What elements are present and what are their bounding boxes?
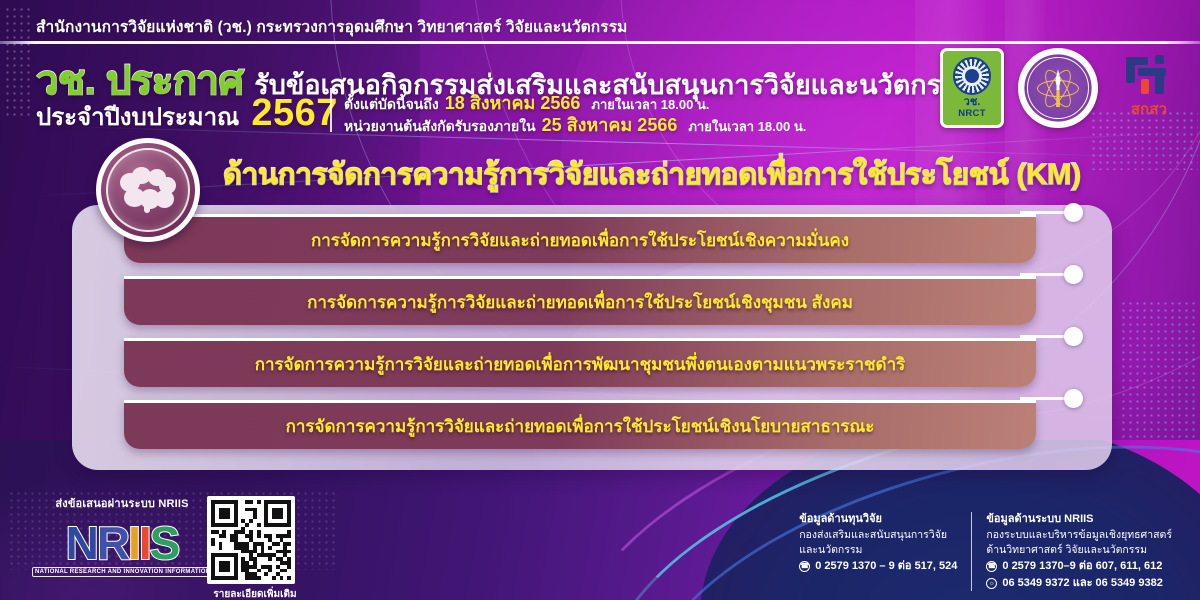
topic-label: การจัดการความรู้การวิจัยและถ่ายทอดเพื่อก… — [281, 294, 879, 311]
topic-bar[interactable]: การจัดการความรู้การวิจัยและถ่ายทอดเพื่อก… — [124, 338, 1036, 387]
nrct-english-abbr: NRCT — [958, 109, 986, 119]
phone-icon: ☎ — [799, 561, 810, 572]
headline-vertical-divider — [330, 88, 332, 132]
contact-nriis-system: ข้อมูลด้านระบบ NRIIS กองระบบและบริหารข้อ… — [972, 512, 1186, 591]
contact-line: และนวัตกรรม — [799, 543, 957, 558]
topic-node-dot — [1064, 389, 1083, 408]
list-item[interactable]: การจัดการความรู้การวิจัยและถ่ายทอดเพื่อก… — [124, 338, 1084, 393]
mhesi-atom-icon — [1035, 65, 1081, 111]
nriis-letter-n: N — [66, 522, 97, 564]
contact-title: ข้อมูลด้านทุนวิจัย — [799, 512, 957, 528]
qr-block[interactable]: รายละเอียดเพิ่มเติม — [207, 496, 303, 600]
topic-label: การจัดการความรู้การวิจัยและถ่ายทอดเพื่อก… — [260, 418, 901, 435]
category-badge — [96, 138, 200, 242]
tsri-logo: สกสว — [1112, 48, 1186, 128]
nriis-letter-r: R — [97, 522, 128, 564]
contact-line: กองระบบและบริหารข้อมูลเชิงยุทธศาสตร์ — [986, 528, 1172, 543]
deadline-date: 25 สิงหาคม 2566 — [542, 110, 678, 139]
fiscal-year-value: 2567 — [251, 92, 338, 135]
contact-line: กองส่งเสริมและสนับสนุนการวิจัย — [799, 528, 957, 543]
contact-phone-number: 0 2579 1370–9 ต่อ 607, 611, 612 — [1002, 558, 1162, 575]
contact-line: ด้านวิทยาศาสตร์ วิจัยและนวัตกรรม — [986, 543, 1172, 558]
topic-node-dot — [1064, 327, 1083, 346]
contact-mobile-number: 06 5349 9372 และ 06 5349 9382 — [1002, 575, 1162, 592]
topic-node-dot — [1064, 203, 1083, 222]
announcement-banner: สำนักงานการวิจัยแห่งชาติ (วช.) กระทรวงกา… — [0, 0, 1200, 600]
topic-bar[interactable]: การจัดการความรู้การวิจัยและถ่ายทอดเพื่อก… — [124, 276, 1036, 325]
tsri-label: สกสว — [1131, 97, 1168, 121]
logo-group: วช. NRCT สกสว — [940, 48, 1186, 128]
submit-caption: ส่งข้อเสนอผ่านระบบ NRIIS — [32, 494, 212, 512]
contact-mobile: ☼ 06 5349 9372 และ 06 5349 9382 — [986, 575, 1172, 592]
list-item[interactable]: การจัดการความรู้การวิจัยและถ่ายทอดเพื่อก… — [124, 276, 1084, 331]
contact-title: ข้อมูลด้านระบบ NRIIS — [986, 512, 1172, 528]
mhesi-logo — [1018, 48, 1098, 128]
topic-node-dot — [1064, 265, 1083, 284]
phone-icon: ☎ — [986, 561, 997, 572]
nrct-logo: วช. NRCT — [940, 48, 1004, 128]
topic-bar[interactable]: การจัดการความรู้การวิจัยและถ่ายทอดเพื่อก… — [124, 214, 1036, 263]
headline-row-year: ประจำปีงบประมาณ 2567 — [36, 92, 338, 136]
nrct-thai-abbr: วช. — [964, 96, 981, 108]
brain-knowledge-icon — [119, 166, 177, 214]
topic-label: การจัดการความรู้การวิจัยและถ่ายทอดเพื่อก… — [229, 356, 932, 373]
mobile-icon: ☼ — [986, 578, 997, 589]
organization-line: สำนักงานการวิจัยแห่งชาติ (วช.) กระทรวงกา… — [36, 14, 627, 38]
qr-caption: รายละเอียดเพิ่มเติม — [207, 587, 303, 600]
main-heading: ด้านการจัดการความรู้การวิจัยและถ่ายทอดเพ… — [222, 152, 1082, 196]
contact-phone-number: 0 2579 1370 – 9 ต่อ 517, 524 — [815, 558, 957, 575]
contact-phone: ☎ 0 2579 1370–9 ต่อ 607, 611, 612 — [986, 558, 1172, 575]
topic-list: การจัดการความรู้การวิจัยและถ่ายทอดเพื่อก… — [124, 214, 1084, 462]
deadline-suffix: ภายในเวลา 18.00 น. — [688, 116, 806, 137]
tsri-mark-icon — [1124, 55, 1174, 95]
fiscal-year-label: ประจำปีงบประมาณ — [36, 97, 239, 136]
list-item[interactable]: การจัดการความรู้การวิจัยและถ่ายทอดเพื่อก… — [124, 214, 1084, 269]
qr-code[interactable] — [207, 496, 295, 584]
list-item[interactable]: การจัดการความรู้การวิจัยและถ่ายทอดเพื่อก… — [124, 400, 1084, 455]
nriis-logo: N R I I S — [32, 514, 212, 564]
nriis-letter-s: S — [150, 522, 179, 564]
deadline-prefix: ตั้งแต่บัดนี้จนถึง — [344, 94, 439, 116]
deadline-row: ตั้งแต่บัดนี้จนถึง 18 สิงหาคม 2566 ภายใน… — [344, 88, 806, 110]
topic-bar[interactable]: การจัดการความรู้การวิจัยและถ่ายทอดเพื่อก… — [124, 400, 1036, 449]
nriis-letter-i2: I — [139, 522, 150, 564]
contact-group: ข้อมูลด้านทุนวิจัย กองส่งเสริมและสนับสนุ… — [785, 512, 1186, 591]
nriis-letter-i1: I — [128, 522, 139, 564]
nriis-submit-block[interactable]: ส่งข้อเสนอผ่านระบบ NRIIS N R I I S NATIO… — [32, 494, 212, 577]
topic-label: การจัดการความรู้การวิจัยและถ่ายทอดเพื่อก… — [285, 232, 875, 249]
nrct-emblem-icon — [953, 57, 991, 95]
header-divider-line — [0, 41, 1200, 44]
dot-grid-topleft — [4, 6, 30, 116]
contact-research-funding: ข้อมูลด้านทุนวิจัย กองส่งเสริมและสนับสนุ… — [785, 512, 972, 591]
deadline-prefix: หน่วยงานต้นสังกัดรับรองภายใน — [344, 116, 536, 138]
dot-grid-right — [1120, 300, 1198, 450]
contact-phone: ☎ 0 2579 1370 – 9 ต่อ 517, 524 — [799, 558, 957, 575]
deadline-block: ตั้งแต่บัดนี้จนถึง 18 สิงหาคม 2566 ภายใน… — [344, 88, 806, 132]
main-heading-text: ด้านการจัดการความรู้การวิจัยและถ่ายทอดเพ… — [223, 151, 1081, 197]
